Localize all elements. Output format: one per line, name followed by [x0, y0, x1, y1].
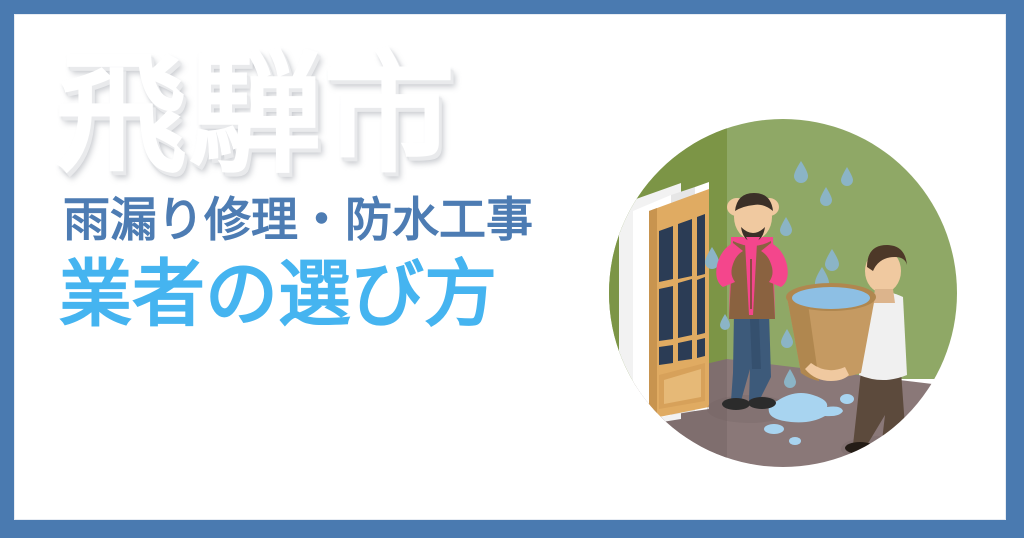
puddle-splash-right [840, 394, 854, 404]
puddle-splash-small [789, 437, 801, 445]
man-right-shoe-front [877, 445, 907, 457]
puddle-splash-bottom [764, 424, 784, 434]
banner-root: 飛騨市 雨漏り修理・防水工事 業者の選び方 [0, 0, 1024, 538]
man-left-shoe-right [748, 397, 776, 409]
man-right-shoe-back [845, 442, 875, 454]
door-leaf-edge [649, 208, 657, 419]
man-right-neck [873, 289, 895, 303]
bucket-water [792, 287, 870, 309]
page-subtitle-service: 雨漏り修理・防水工事 [49, 197, 609, 244]
door-group [619, 182, 709, 429]
page-title-city: 飛騨市 [49, 49, 609, 181]
rain-leak-illustration [609, 119, 957, 467]
page-cta-heading: 業者の選び方 [49, 258, 609, 331]
rain-leak-scene-svg [609, 119, 957, 467]
inner-white-card: 飛騨市 雨漏り修理・防水工事 業者の選び方 [14, 14, 1006, 520]
man-left-shoe-left [722, 398, 750, 410]
headline-group: 飛騨市 雨漏り修理・防水工事 業者の選び方 [49, 49, 609, 331]
